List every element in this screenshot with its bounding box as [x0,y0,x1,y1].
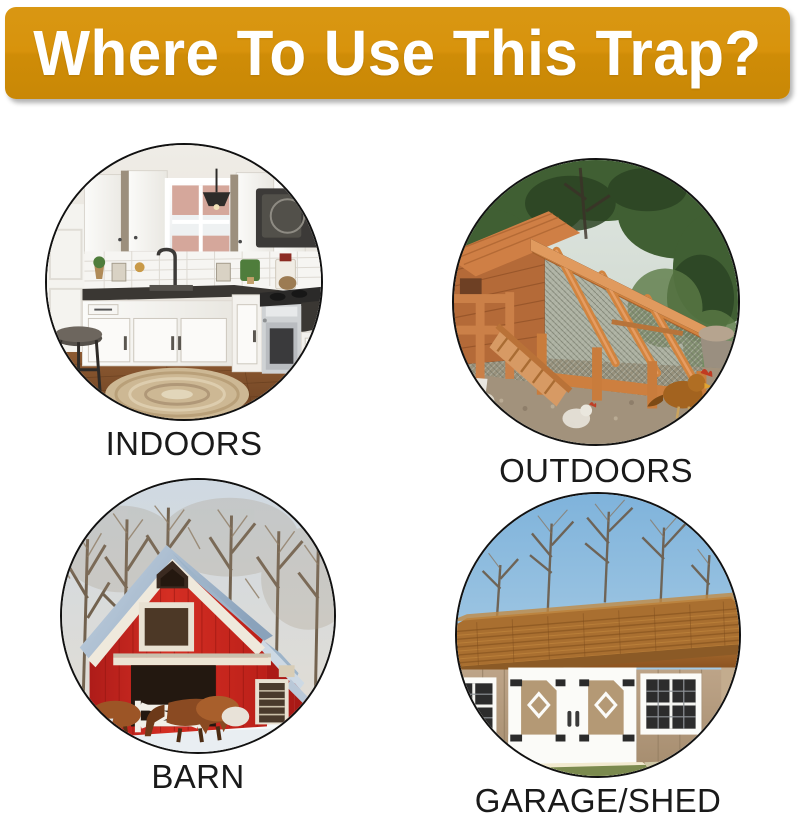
tile-caption-garage: GARAGE/SHED [455,784,741,818]
garage-shed-exterior-photo [455,492,741,778]
chicken-coop-run-photo [452,158,740,446]
tile-caption-indoors: INDOORS [45,427,323,461]
page-title: Where To Use This Trap? [33,21,761,85]
header-banner: Where To Use This Trap? [5,7,790,99]
kitchen-interior-photo [45,143,323,421]
tile-caption-outdoors: OUTDOORS [452,454,740,488]
tile-caption-barn: BARN [60,760,336,794]
red-barn-winter-photo [60,478,336,754]
